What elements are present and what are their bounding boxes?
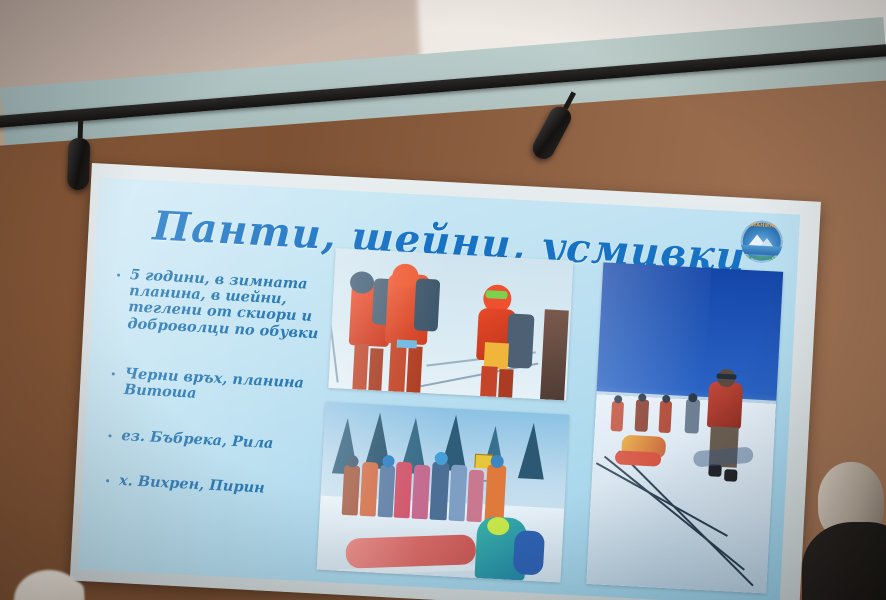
photo-skiers-red-jackets bbox=[328, 248, 573, 400]
photo-sled-pulling-snow bbox=[586, 262, 783, 593]
bullet-item-2: Черни връх, планина Витоша bbox=[106, 365, 352, 410]
track-spotlight-left bbox=[67, 120, 91, 191]
organization-logo-icon: ПЛАНИНА ЗА ВСИЧКИ bbox=[740, 220, 784, 264]
bullet-item-4: х. Вихрен, Пирин bbox=[101, 472, 347, 501]
logo-top-text: ПЛАНИНА bbox=[741, 222, 783, 230]
bullet-item-1: 5 години, в зимната планина, в шейни, те… bbox=[109, 266, 357, 344]
audience-member-silhouette bbox=[796, 456, 886, 600]
audience-shoulder bbox=[802, 522, 886, 600]
logo-bottom-text: ЗА ВСИЧКИ bbox=[740, 255, 782, 263]
room-photo-scene: Панти, шейни, усмивки 5 години, в зимнат… bbox=[0, 0, 886, 600]
photo-group-winter-forest bbox=[317, 402, 570, 583]
projection-screen: Панти, шейни, усмивки 5 години, в зимнат… bbox=[70, 163, 821, 600]
slide-bullet-list: 5 години, в зимната планина, в шейни, те… bbox=[100, 266, 357, 517]
presentation-slide: Панти, шейни, усмивки 5 години, в зимнат… bbox=[78, 177, 800, 600]
bullet-item-3: ез. Бъбрека, Рила bbox=[103, 427, 349, 456]
audience-member-foreground-arm bbox=[58, 582, 84, 600]
